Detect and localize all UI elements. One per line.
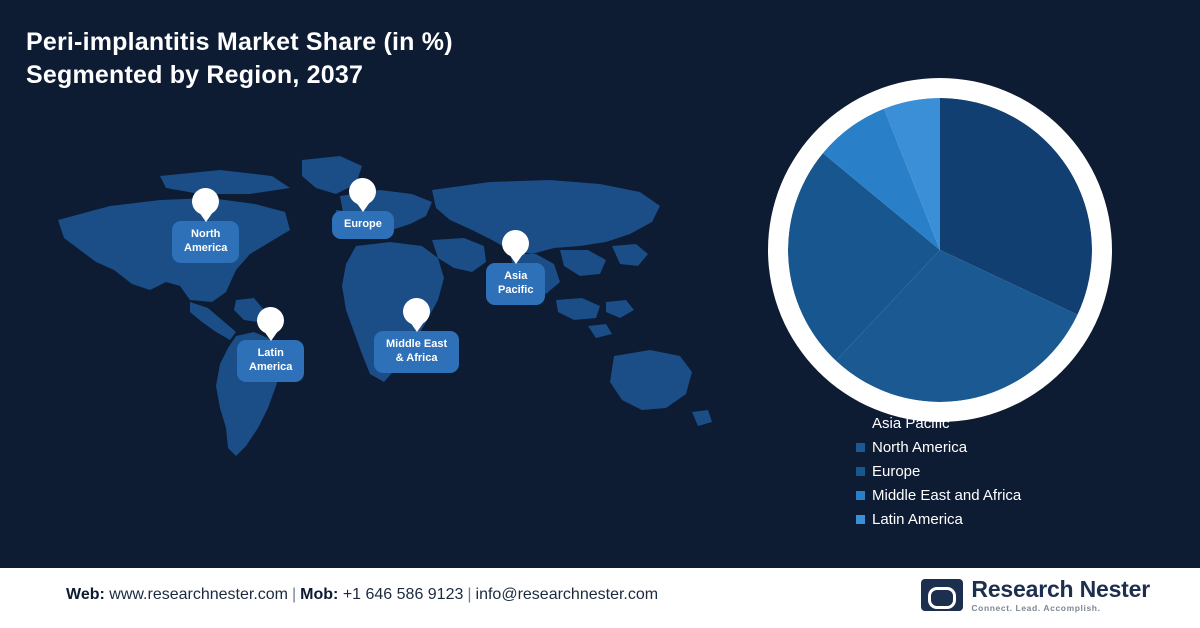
footer-email[interactable]: info@researchnester.com	[476, 586, 659, 603]
footer-web-label: Web:	[66, 586, 105, 603]
brand-names: Research Nester Connect. Lead. Accomplis…	[971, 578, 1150, 613]
map-pin-dot-icon	[257, 307, 284, 334]
pie-chart	[788, 98, 1092, 402]
map-pin-dot-icon	[349, 178, 376, 205]
brand-mark-icon	[921, 579, 963, 611]
legend-item-latin-america[interactable]: Latin America	[856, 508, 1021, 531]
legend-label: North America	[872, 440, 967, 455]
footer-separator-1: |	[288, 586, 300, 603]
map-pin-europe[interactable]: Europe	[332, 178, 394, 239]
legend-item-asia-pacific[interactable]: Asia Pacific	[856, 412, 1021, 435]
brand-tagline: Connect. Lead. Accomplish.	[971, 604, 1150, 613]
map-pin-label-europe: Europe	[332, 211, 394, 239]
legend-item-europe[interactable]: Europe	[856, 460, 1021, 483]
legend-item-north-america[interactable]: North America	[856, 436, 1021, 459]
map-pin-north-america[interactable]: NorthAmerica	[172, 188, 239, 263]
map-pin-latin-america[interactable]: LatinAmerica	[237, 307, 304, 382]
legend-label: Middle East and Africa	[872, 488, 1021, 503]
title-line-1: Peri-implantitis Market Share (in %)	[26, 28, 453, 56]
map-pin-label-asia-pacific: AsiaPacific	[486, 263, 545, 305]
brand-name-1: Research	[971, 576, 1073, 602]
map-pin-asia-pacific[interactable]: AsiaPacific	[486, 230, 545, 305]
legend-swatch-icon	[856, 443, 865, 452]
chart-legend: Asia PacificNorth AmericaEuropeMiddle Ea…	[856, 412, 1021, 532]
brand-logo: Research Nester Connect. Lead. Accomplis…	[921, 578, 1150, 613]
legend-swatch-icon	[856, 491, 865, 500]
footer-divider	[0, 566, 1200, 568]
legend-label: Asia Pacific	[872, 416, 950, 431]
map-pin-dot-icon	[403, 298, 430, 325]
map-pin-dot-icon	[502, 230, 529, 257]
legend-label: Latin America	[872, 512, 963, 527]
map-pin-label-north-america: NorthAmerica	[172, 221, 239, 263]
footer-web-value[interactable]: www.researchnester.com	[109, 586, 288, 603]
footer-mob-label: Mob:	[300, 586, 338, 603]
legend-swatch-icon	[856, 515, 865, 524]
legend-swatch-icon	[856, 467, 865, 476]
legend-item-middle-east-and-africa[interactable]: Middle East and Africa	[856, 484, 1021, 507]
legend-label: Europe	[872, 464, 920, 479]
title-line-2: Segmented by Region, 2037	[26, 59, 666, 92]
map-pin-label-middle-east-africa: Middle East& Africa	[374, 331, 459, 373]
map-pin-label-latin-america: LatinAmerica	[237, 340, 304, 382]
infographic-page: Peri-implantitis Market Share (in %) Seg…	[0, 0, 1200, 628]
footer-mob-value: +1 646 586 9123	[343, 586, 464, 603]
brand-name-2: Nester	[1080, 576, 1150, 602]
page-title: Peri-implantitis Market Share (in %) Seg…	[26, 26, 666, 93]
map-pin-dot-icon	[192, 188, 219, 215]
footer-bar: Web: www.researchnester.com|Mob: +1 646 …	[0, 566, 1200, 628]
footer-contact: Web: www.researchnester.com|Mob: +1 646 …	[66, 586, 658, 604]
map-pin-middle-east-africa[interactable]: Middle East& Africa	[374, 298, 459, 373]
world-map: NorthAmerica Europe AsiaPacific LatinAme…	[40, 150, 740, 480]
footer-separator-2: |	[463, 586, 475, 603]
